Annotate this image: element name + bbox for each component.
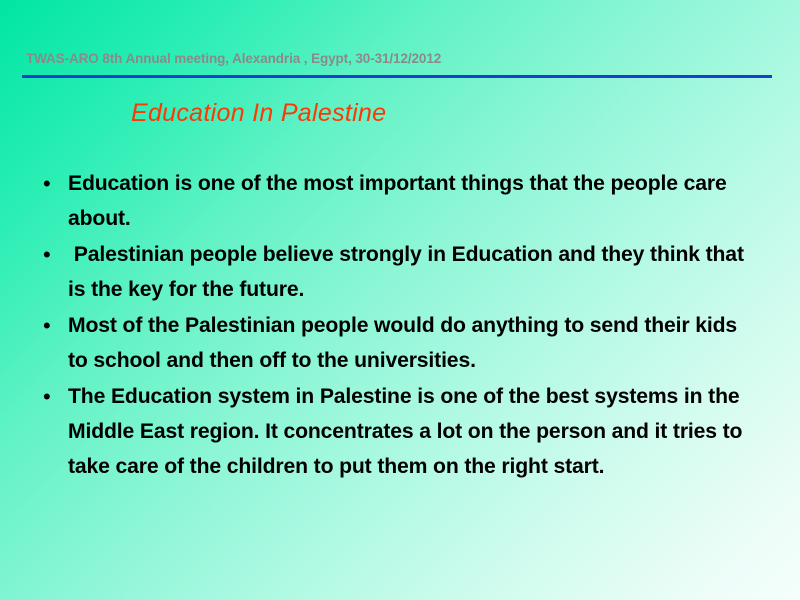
slide-header: TWAS-ARO 8th Annual meeting, Alexandria … bbox=[0, 50, 800, 84]
bullet-dot-icon: • bbox=[36, 308, 68, 343]
list-item-text: Palestinian people believe strongly in E… bbox=[68, 237, 754, 307]
list-item-text: The Education system in Palestine is one… bbox=[68, 379, 754, 484]
list-item-text: Education is one of the most important t… bbox=[68, 166, 754, 236]
list-item: • Most of the Palestinian people would d… bbox=[36, 308, 764, 378]
slide-canvas: TWAS-ARO 8th Annual meeting, Alexandria … bbox=[0, 0, 800, 600]
bullet-dot-icon: • bbox=[36, 379, 68, 414]
bullet-dot-icon: • bbox=[36, 166, 68, 201]
list-item: • Education is one of the most important… bbox=[36, 166, 764, 236]
header-conference-title: TWAS-ARO 8th Annual meeting, Alexandria … bbox=[26, 50, 441, 68]
bullet-list: • Education is one of the most important… bbox=[36, 166, 764, 485]
header-divider-rule bbox=[22, 75, 772, 78]
list-item-text: Most of the Palestinian people would do … bbox=[68, 308, 754, 378]
list-item: • Palestinian people believe strongly in… bbox=[36, 237, 764, 307]
list-item: • The Education system in Palestine is o… bbox=[36, 379, 764, 484]
bullet-dot-icon: • bbox=[36, 237, 68, 272]
page-title: Education In Palestine bbox=[131, 99, 386, 128]
